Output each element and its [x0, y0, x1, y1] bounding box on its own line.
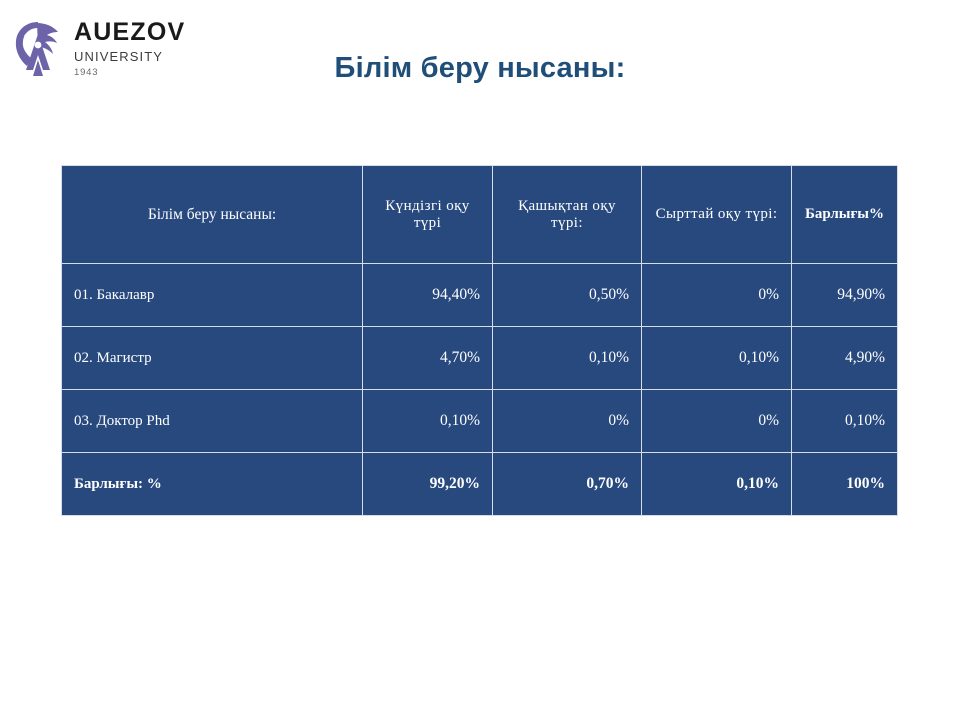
cell-fulltime: 99,20% — [363, 453, 493, 516]
column-header-fulltime: Күндізгі оқу түрі — [363, 166, 493, 264]
cell-total: 100% — [792, 453, 898, 516]
column-header-extramural: Сырттай оқу түрі: — [642, 166, 792, 264]
column-header-form: Білім беру нысаны: — [62, 166, 363, 264]
row-label: 03. Доктор Phd — [62, 390, 363, 453]
education-form-table-container: Білім беру нысаны: Күндізгі оқу түрі Қаш… — [61, 165, 897, 511]
column-header-total: Барлығы% — [792, 166, 898, 264]
cell-distance: 0,10% — [493, 327, 642, 390]
row-label: Барлығы: % — [62, 453, 363, 516]
cell-total: 0,10% — [792, 390, 898, 453]
row-label: 02. Магистр — [62, 327, 363, 390]
cell-distance: 0% — [493, 390, 642, 453]
brand-name: AUEZOV — [74, 20, 185, 45]
cell-extramural: 0% — [642, 264, 792, 327]
cell-fulltime: 0,10% — [363, 390, 493, 453]
column-header-distance: Қашықтан оқу түрі: — [493, 166, 642, 264]
education-form-table: Білім беру нысаны: Күндізгі оқу түрі Қаш… — [61, 165, 898, 516]
cell-fulltime: 4,70% — [363, 327, 493, 390]
table-row: 03. Доктор Phd 0,10% 0% 0% 0,10% — [62, 390, 898, 453]
cell-total: 4,90% — [792, 327, 898, 390]
cell-total: 94,90% — [792, 264, 898, 327]
row-label: 01. Бакалавр — [62, 264, 363, 327]
page-title: Білім беру нысаны: — [0, 52, 960, 85]
cell-extramural: 0,10% — [642, 327, 792, 390]
cell-distance: 0,70% — [493, 453, 642, 516]
table-row: 01. Бакалавр 94,40% 0,50% 0% 94,90% — [62, 264, 898, 327]
table-header-row: Білім беру нысаны: Күндізгі оқу түрі Қаш… — [62, 166, 898, 264]
cell-fulltime: 94,40% — [363, 264, 493, 327]
cell-extramural: 0,10% — [642, 453, 792, 516]
table-total-row: Барлығы: % 99,20% 0,70% 0,10% 100% — [62, 453, 898, 516]
cell-distance: 0,50% — [493, 264, 642, 327]
table-row: 02. Магистр 4,70% 0,10% 0,10% 4,90% — [62, 327, 898, 390]
cell-extramural: 0% — [642, 390, 792, 453]
